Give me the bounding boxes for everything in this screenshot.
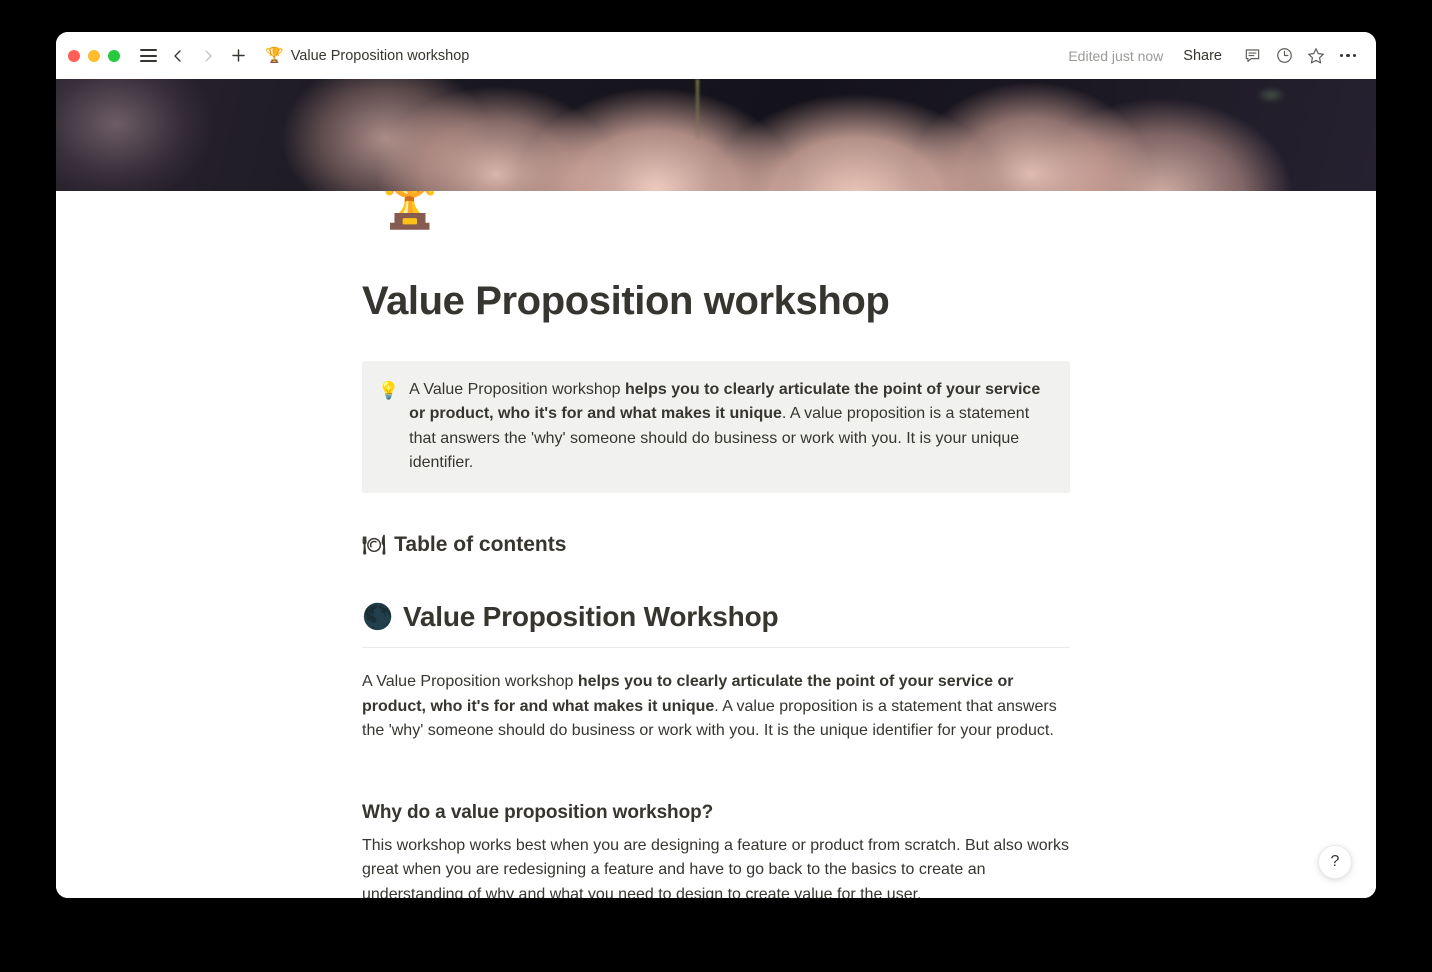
star-icon	[1306, 46, 1326, 66]
moon-icon: 🌑	[362, 605, 393, 630]
app-window: 🏆 Value Proposition workshop Edited just…	[56, 32, 1376, 898]
more-horizontal-icon	[1340, 54, 1357, 58]
section-paragraph[interactable]: A Value Proposition workshop helps you t…	[362, 670, 1070, 743]
chevron-left-icon	[170, 48, 186, 64]
page-scroll-area[interactable]: 🏆 Value Proposition workshop 💡 A Value P…	[56, 191, 1376, 898]
favorite-button[interactable]	[1302, 42, 1330, 70]
page-icon-trophy-icon[interactable]: 🏆	[364, 191, 456, 227]
new-page-button[interactable]	[224, 42, 252, 70]
titlebar: 🏆 Value Proposition workshop Edited just…	[56, 32, 1376, 79]
cover-glint-detail	[1256, 87, 1286, 103]
table-of-contents-heading[interactable]: 🍽 Table of contents	[362, 533, 1070, 557]
page-content: Value Proposition workshop 💡 A Value Pro…	[362, 191, 1070, 898]
maximize-window-button[interactable]	[108, 50, 120, 62]
breadcrumb[interactable]: 🏆 Value Proposition workshop	[260, 45, 474, 67]
breadcrumb-title: Value Proposition workshop	[291, 48, 470, 64]
cover-image[interactable]	[56, 79, 1376, 191]
cover-stem-detail	[696, 79, 699, 139]
table-of-contents-label: Table of contents	[394, 533, 566, 557]
share-button[interactable]: Share	[1175, 44, 1230, 68]
hamburger-icon	[140, 49, 157, 62]
edited-status[interactable]: Edited just now	[1068, 48, 1163, 64]
nav-group	[134, 42, 252, 70]
comment-icon	[1243, 46, 1262, 65]
callout-block[interactable]: 💡 A Value Proposition workshop helps you…	[362, 361, 1070, 493]
titlebar-actions: Edited just now Share	[1068, 42, 1362, 70]
lightbulb-icon: 💡	[378, 378, 399, 475]
section-heading[interactable]: 🌑 Value Proposition Workshop	[362, 601, 1070, 648]
callout-lead: A Value Proposition workshop	[409, 381, 625, 398]
callout-text: A Value Proposition workshop helps you t…	[409, 378, 1052, 475]
clock-icon	[1275, 46, 1294, 65]
forward-button[interactable]	[194, 42, 222, 70]
subsection-paragraph[interactable]: This workshop works best when you are de…	[362, 834, 1070, 898]
page-history-button[interactable]	[1270, 42, 1298, 70]
help-button[interactable]: ?	[1318, 845, 1352, 879]
section-paragraph-lead: A Value Proposition workshop	[362, 673, 578, 690]
sidebar-toggle-button[interactable]	[134, 42, 162, 70]
cover-photo	[56, 79, 1376, 191]
section-heading-label: Value Proposition Workshop	[403, 601, 778, 633]
traffic-lights	[68, 50, 120, 62]
more-options-button[interactable]	[1334, 42, 1362, 70]
back-button[interactable]	[164, 42, 192, 70]
page-title[interactable]: Value Proposition workshop	[362, 277, 1070, 325]
plus-icon	[230, 47, 247, 64]
comment-button[interactable]	[1238, 42, 1266, 70]
minimize-window-button[interactable]	[88, 50, 100, 62]
close-window-button[interactable]	[68, 50, 80, 62]
chevron-right-icon	[200, 48, 216, 64]
plate-cutlery-icon: 🍽	[362, 533, 386, 557]
subsection-heading[interactable]: Why do a value proposition workshop?	[362, 802, 1070, 824]
trophy-icon: 🏆	[265, 48, 284, 63]
